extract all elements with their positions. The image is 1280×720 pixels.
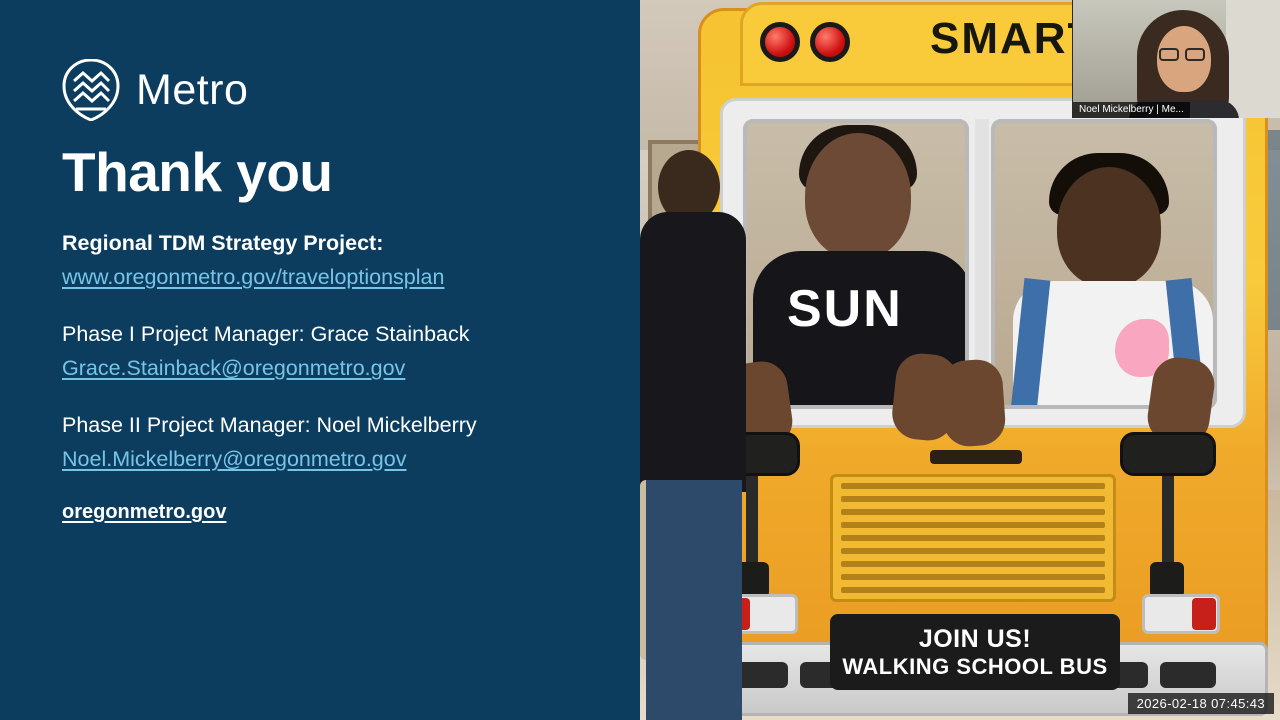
spacer [62, 384, 602, 410]
project-title-line: Regional TDM Strategy Project: [62, 228, 602, 259]
glasses-icon [1159, 48, 1179, 61]
phase2-manager-line: Phase II Project Manager: Noel Mickelber… [62, 410, 602, 441]
license-plate-line2: WALKING SCHOOL BUS [842, 654, 1107, 680]
bus-grille [830, 474, 1116, 602]
bus-taillight-lens-right [1192, 598, 1216, 630]
grille-bar [841, 496, 1105, 502]
grille-bar [841, 587, 1105, 593]
bus-hood-vent [930, 450, 1022, 464]
glasses-icon [1185, 48, 1205, 61]
hand [939, 358, 1007, 448]
phase1-manager-email-link[interactable]: Grace.Stainback@oregonmetro.gov [62, 353, 405, 384]
grille-bar [841, 522, 1105, 528]
phase1-manager-line: Phase I Project Manager: Grace Stainback [62, 319, 602, 350]
recording-timestamp: 2026-02-18 07:45:43 [1128, 693, 1274, 714]
page-title: Thank you [62, 144, 602, 202]
organization-website-link[interactable]: oregonmetro.gov [62, 501, 226, 523]
webcam-background-wall [1226, 0, 1280, 118]
webcam-participant-label: Noel Mickelberry | Me... [1073, 102, 1190, 118]
metro-logo: Metro [62, 58, 602, 122]
bus-license-plate-sign: JOIN US! WALKING SCHOOL BUS [830, 614, 1120, 690]
grille-bar [841, 535, 1105, 541]
bus-mirror-right [1120, 432, 1216, 476]
spacer [62, 475, 602, 501]
person-jeans [646, 480, 742, 720]
webcam-pip-tile[interactable]: Noel Mickelberry | Me... [1072, 0, 1280, 118]
bumper-slot [1160, 662, 1216, 688]
person-shirt [640, 212, 746, 492]
presentation-slide-left: Metro Thank you Regional TDM Strategy Pr… [0, 0, 640, 720]
child-face [1057, 167, 1161, 287]
metro-wordmark: Metro [136, 69, 248, 112]
spacer [62, 293, 602, 319]
license-plate-line1: JOIN US! [919, 625, 1031, 654]
grille-bar [841, 574, 1105, 580]
metro-logo-icon [62, 59, 120, 121]
phase2-manager-email-link[interactable]: Noel.Mickelberry@oregonmetro.gov [62, 444, 406, 475]
person-holding-cutout [640, 150, 750, 720]
grille-bar [841, 509, 1105, 515]
grille-bar [841, 548, 1105, 554]
grille-bar [841, 561, 1105, 567]
bus-warning-light-right [810, 22, 850, 62]
presentation-slide-photo: SMART SUN [640, 0, 1280, 720]
person-face [805, 133, 911, 259]
project-website-link[interactable]: www.oregonmetro.gov/traveloptionsplan [62, 262, 444, 293]
bus-mirror-mount-right [1150, 562, 1184, 598]
screen-root: Metro Thank you Regional TDM Strategy Pr… [0, 0, 1280, 720]
grille-bar [841, 483, 1105, 489]
slide-content: Metro Thank you Regional TDM Strategy Pr… [62, 58, 602, 524]
bus-warning-light-left [760, 22, 800, 62]
